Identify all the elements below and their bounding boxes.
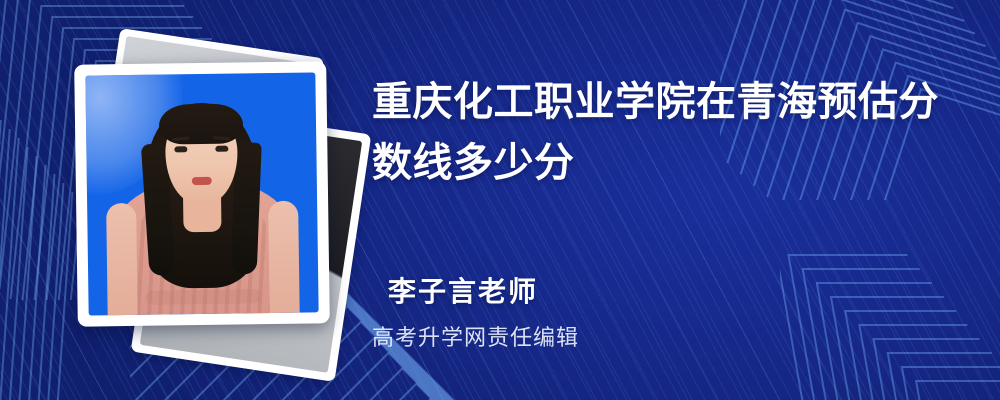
portrait-photo — [85, 72, 318, 315]
person-waist — [145, 289, 261, 305]
banner-text-column: 重庆化工职业学院在青海预估分数线多少分 李子言老师 高考升学网责任编辑 — [372, 0, 972, 400]
article-cover-banner: 重庆化工职业学院在青海预估分数线多少分 李子言老师 高考升学网责任编辑 — [0, 0, 1000, 400]
person-arm-right — [268, 201, 300, 313]
person-arm-left — [106, 203, 138, 315]
person-lips — [192, 177, 212, 185]
author-name: 李子言老师 — [388, 270, 538, 310]
person-eye-left — [174, 146, 187, 152]
person-eye-right — [215, 146, 228, 152]
person-illustration — [85, 72, 318, 315]
photo-stack — [62, 40, 362, 350]
banner-title: 重庆化工职业学院在青海预估分数线多少分 — [372, 72, 960, 194]
author-role: 高考升学网责任编辑 — [372, 320, 579, 352]
portrait-photo-frame — [74, 61, 330, 326]
